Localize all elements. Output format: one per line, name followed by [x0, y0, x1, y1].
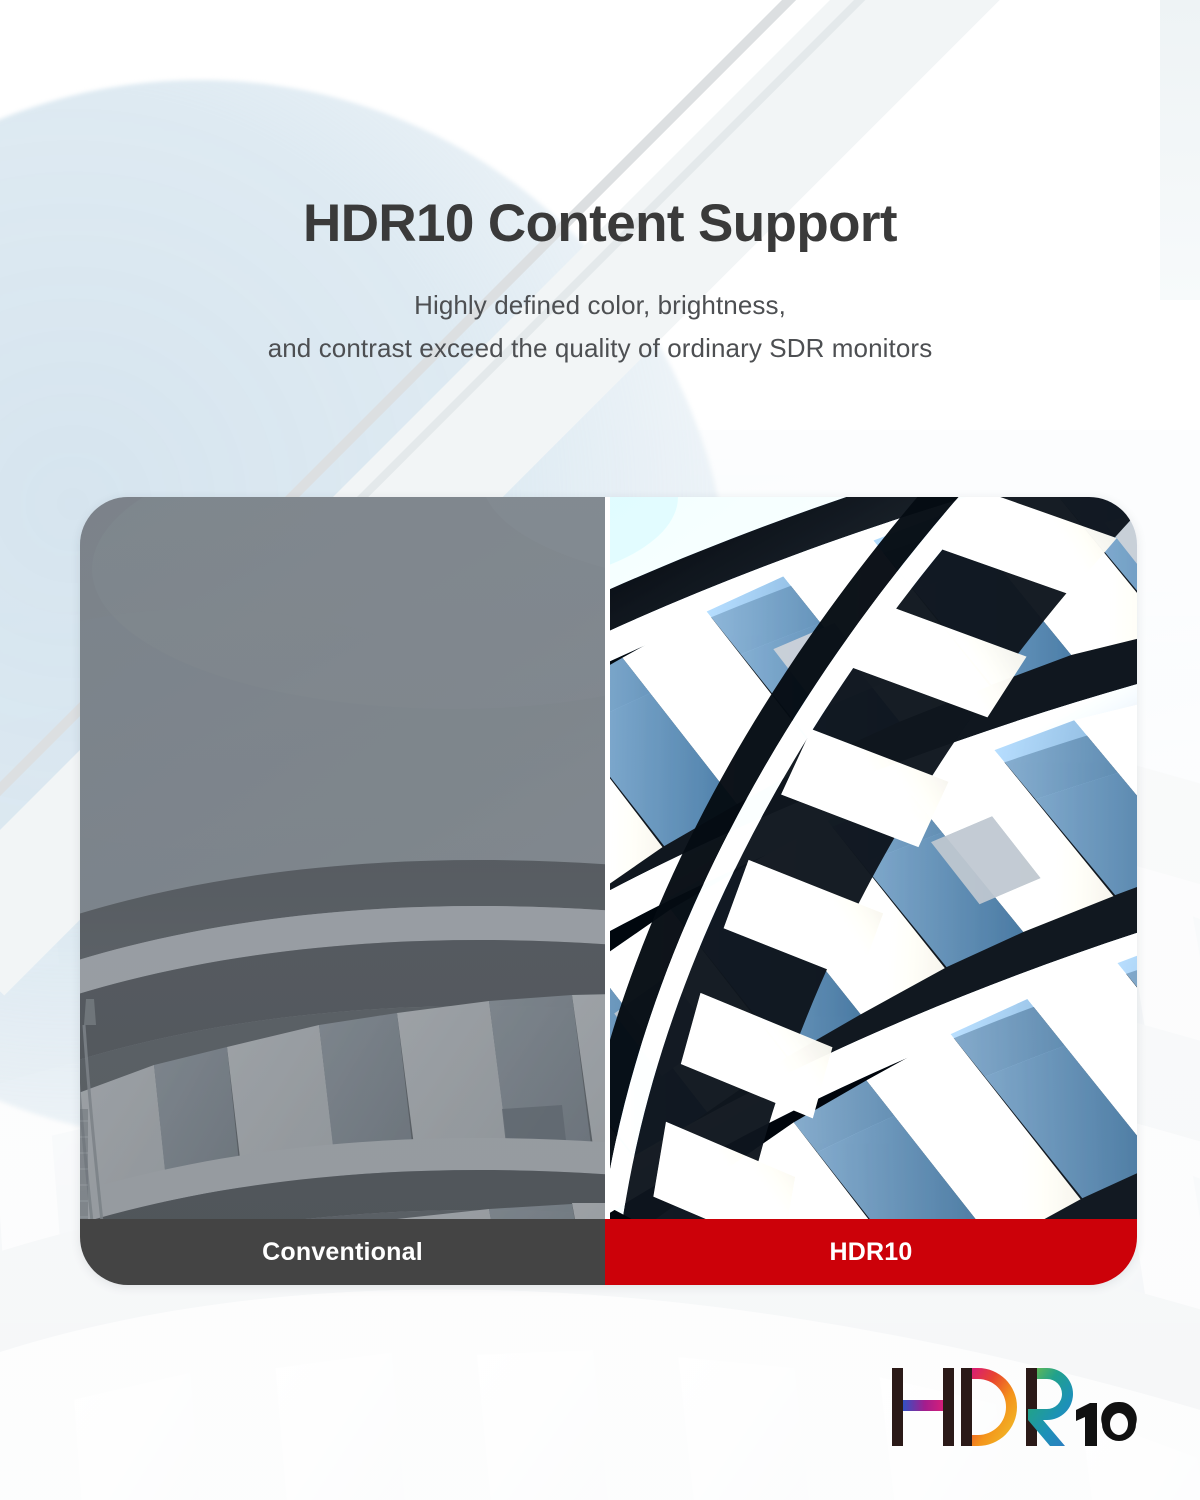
label-hdr10: HDR10 [605, 1219, 1137, 1285]
logo-d-stem [961, 1368, 972, 1446]
comparison-label-bar: Conventional HDR10 [80, 1219, 1137, 1285]
subtitle-line-2: and contrast exceed the quality of ordin… [268, 333, 933, 363]
header: HDR10 Content Support Highly defined col… [0, 0, 1200, 371]
comparison-halves [80, 497, 1137, 1219]
hdr10-photo [610, 497, 1137, 1219]
logo-numerals [1076, 1402, 1137, 1446]
logo-h-crossbar [903, 1400, 943, 1411]
conventional-photo [80, 497, 605, 1219]
page-subtitle: Highly defined color, brightness, and co… [0, 252, 1200, 371]
logo-h-right-stem [943, 1368, 954, 1446]
logo-h-left-stem [892, 1368, 903, 1446]
conventional-image-panel [80, 497, 605, 1219]
building-scene-hdr10 [610, 497, 1137, 1219]
label-conventional: Conventional [80, 1219, 605, 1285]
hdr10-promo-graphic: HDR10 Content Support Highly defined col… [0, 0, 1200, 1500]
hdr10-image-panel [610, 497, 1137, 1219]
logo-d-bowl [972, 1368, 1017, 1446]
page-title: HDR10 Content Support [0, 0, 1200, 252]
conventional-desaturate-overlay [80, 497, 605, 1219]
hdr10-logo [886, 1362, 1138, 1466]
subtitle-line-1: Highly defined color, brightness, [414, 290, 786, 320]
logo-r-stem [1026, 1368, 1037, 1446]
hdr10-logo-mark [886, 1362, 1138, 1466]
comparison-panel: Conventional HDR10 [80, 497, 1137, 1285]
